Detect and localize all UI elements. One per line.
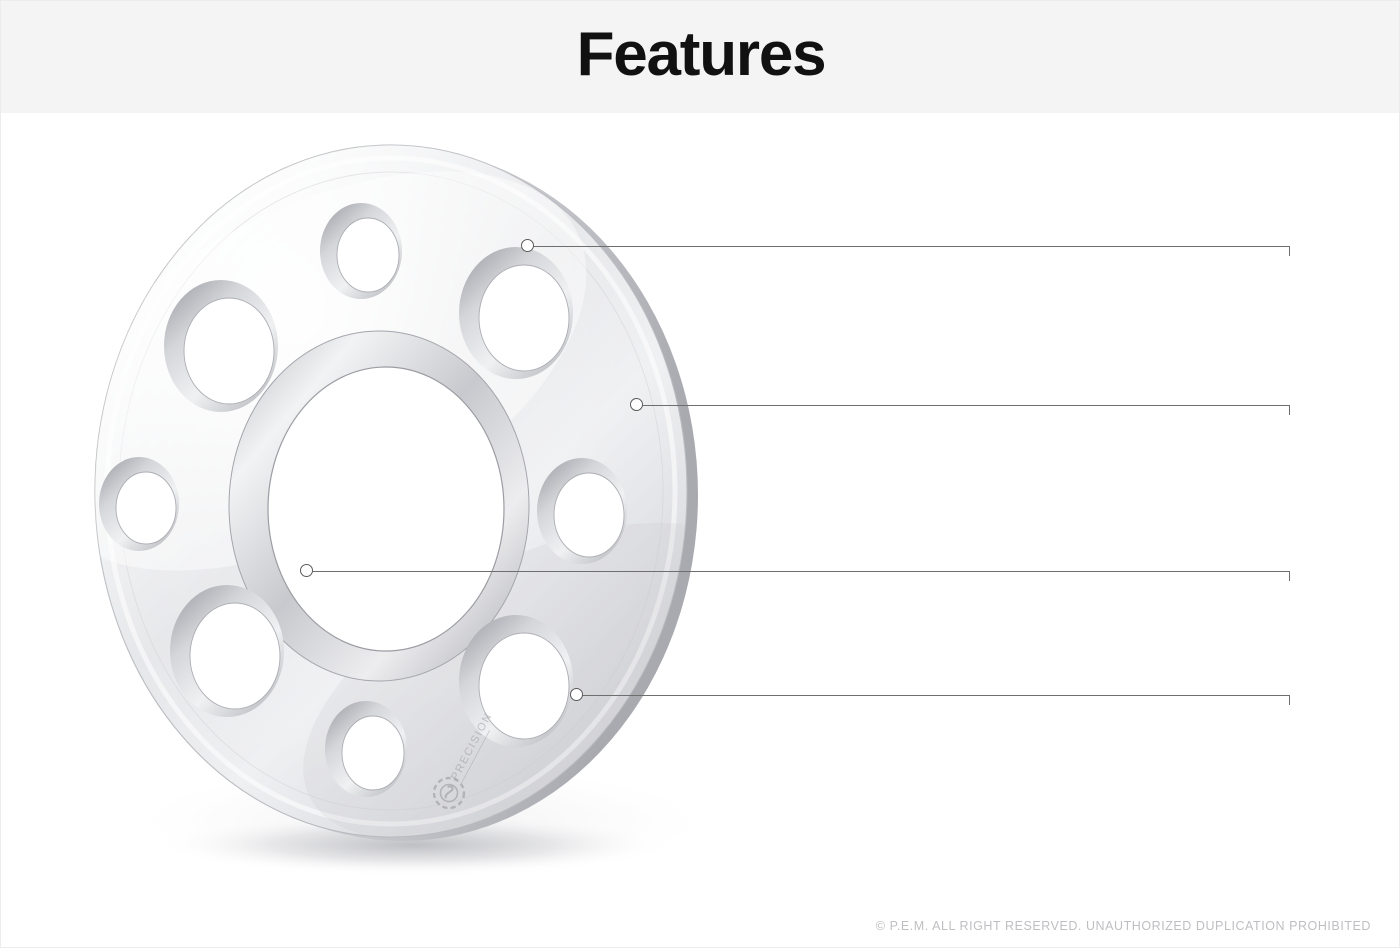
lightening-hole	[99, 457, 179, 551]
copyright-notice: © P.E.M. ALL RIGHT RESERVED. UNAUTHORIZE…	[876, 919, 1371, 933]
spacer-face-group: PRECISION	[61, 121, 781, 901]
page-title: Features	[577, 24, 826, 90]
callout-underline	[528, 246, 1289, 247]
callout-marker-dot[interactable]	[521, 239, 534, 252]
callout-underline-tick	[1289, 246, 1290, 256]
callout-marker-dot[interactable]	[570, 688, 583, 701]
bolt-hole	[170, 585, 284, 717]
bolt-hole	[164, 280, 278, 412]
callout-underline-tick	[1289, 571, 1290, 581]
callout-underline-tick	[1289, 405, 1290, 415]
callout-underline	[307, 571, 1289, 572]
callout-underline-tick	[1289, 695, 1290, 705]
wheel-spacer-illustration: PRECISION	[61, 121, 781, 901]
lightening-hole	[320, 203, 402, 299]
callout-marker-dot[interactable]	[630, 398, 643, 411]
centerbore-opening	[268, 367, 504, 651]
callout-underline	[637, 405, 1289, 406]
bolt-hole	[537, 458, 627, 564]
callout-marker-dot[interactable]	[300, 564, 313, 577]
product-image: PRECISION	[61, 121, 781, 901]
bolt-hole	[459, 247, 573, 379]
callout-underline	[577, 695, 1289, 696]
header-band: Features	[1, 1, 1400, 113]
lightening-hole	[325, 701, 407, 797]
infographic-page: Features	[0, 0, 1400, 948]
